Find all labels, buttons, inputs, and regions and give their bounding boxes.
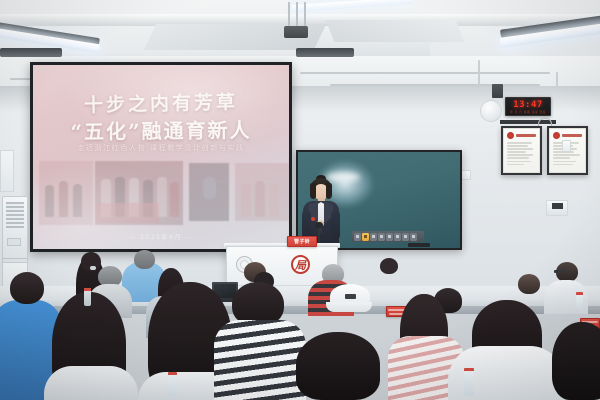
ac-unit-grille [6,202,24,228]
clock-label: 年 月 日 星期 温度 湿度 [506,110,550,114]
wall-speaker-dish [480,100,502,122]
toolbar-button-eraser[interactable] [370,233,377,241]
podium-emblem-center: 局 [291,255,310,274]
wall-outlet-slot [552,203,563,209]
clock-time-display: 13:47 [506,100,550,110]
projector-hanger-1 [288,2,290,28]
ceiling-conduit-right [300,72,550,74]
toolbar-button-menu[interactable] [354,233,361,241]
wall-junction-box [492,84,503,98]
water-bottle [464,368,474,396]
eyeglasses-icon [554,270,565,273]
projection-screen: 十步之内有芳草 “五化”融通育新人 走近浙江红色人物 课程教学设计创新与实践 —… [33,65,289,249]
presenter-hair-left [310,183,316,199]
projector-hanger-3 [304,2,306,26]
toolbar-button-pen[interactable] [362,233,369,241]
audience-person-head [518,274,540,294]
audience-person-shoulders [44,366,138,400]
water-bottle [168,372,177,396]
presenter-hair-right [326,183,332,199]
podium-nameplate: 管子铃 [287,236,317,247]
classroom-presentation-photo: 十步之内有芳草 “五化”融通育新人 走近浙江红色人物 课程教学设计创新与实践 —… [0,0,600,400]
cap-logo-icon [345,294,356,299]
led-wall-clock: 13:47 年 月 日 星期 温度 湿度 [505,97,551,116]
water-bottle [576,292,583,309]
ac-unit-seam [2,258,28,259]
audience-person-head [380,258,398,274]
screen-glare [33,65,289,249]
ac-unit-display [7,238,21,246]
audience-person-head [134,250,155,269]
ac-vent-left [0,48,62,57]
certificate-frame-left [501,126,542,175]
toolbar-button-select[interactable] [386,233,393,241]
toolbar-button-undo[interactable] [394,233,401,241]
audience-person-hair [552,322,600,400]
podium-nameplate-text: 管子铃 [294,238,310,245]
ac-vent-right [296,48,354,57]
certificate-hook [538,118,552,126]
certificate-seal-icon [553,132,560,139]
projector-mount [284,26,308,38]
toolbar-button-save[interactable] [410,233,417,241]
presenter-arm-right [331,210,340,240]
baseball-cap-brim [326,302,372,312]
toolbar-button-redo[interactable] [402,233,409,241]
ceiling-beam-diagonal-right [326,20,465,42]
left-wall-panel [0,150,14,192]
audience-person-body [214,320,306,400]
board-toolbar[interactable] [352,231,424,242]
water-bottle [84,288,91,306]
audience-person-head [10,272,44,304]
microphone-head-icon [315,222,323,228]
certificate-seal-icon [507,132,514,139]
audience-person-hair [296,332,380,400]
wall-switch-plate[interactable] [562,140,571,152]
presenter-badge-icon [311,217,315,221]
toolbar-button-shapes[interactable] [378,233,385,241]
board-brand-label [408,243,430,247]
projection-screen-frame: 十步之内有芳草 “五化”融通育新人 走近浙江红色人物 课程教学设计创新与实践 —… [30,62,292,252]
hair-tie [90,266,96,270]
